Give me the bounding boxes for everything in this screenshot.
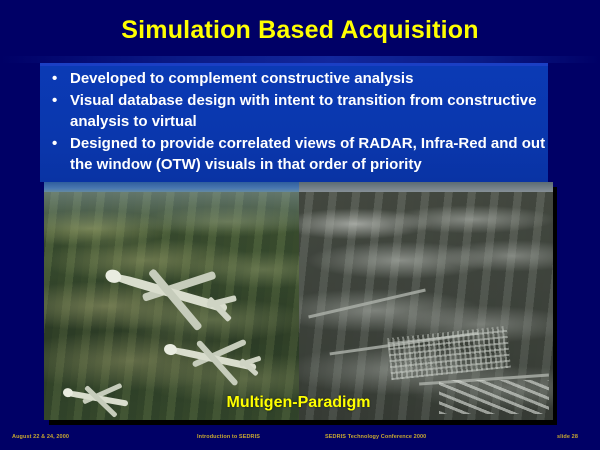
footer-conference-name: SEDRIS Technology Conference 2000 — [325, 433, 426, 441]
bullet-text: Designed to provide correlated views of … — [70, 135, 545, 173]
bullet-item-3: • Designed to provide correlated views o… — [40, 133, 560, 175]
bullet-list: • Developed to complement constructive a… — [40, 68, 560, 176]
footer-date: August 22 & 24, 2000 — [12, 433, 69, 441]
footer-course-title: Introduction to SEDRIS — [197, 433, 260, 441]
out-the-window-visual-image — [44, 182, 299, 420]
bullet-marker-icon: • — [52, 68, 57, 89]
bullet-text: Developed to complement constructive ana… — [70, 70, 413, 87]
bullet-marker-icon: • — [52, 90, 57, 111]
footer-slide-number: slide 28 — [557, 433, 578, 441]
infra-red-visual-image — [299, 182, 554, 420]
aircraft-nose — [163, 343, 178, 356]
bullet-marker-icon: • — [52, 133, 57, 154]
bullet-item-1: • Developed to complement constructive a… — [40, 68, 560, 89]
presentation-slide: Simulation Based Acquisition • Developed… — [0, 0, 600, 450]
slide-footer — [0, 428, 600, 450]
bullet-text: Visual database design with intent to tr… — [70, 92, 536, 130]
title-divider — [0, 56, 600, 63]
page-title: Simulation Based Acquisition — [0, 16, 600, 44]
image-caption: Multigen-Paradigm — [44, 394, 553, 412]
imagery-block: Multigen-Paradigm — [44, 182, 553, 420]
atmospheric-haze — [44, 192, 299, 232]
bullet-item-2: • Visual database design with intent to … — [40, 90, 560, 132]
